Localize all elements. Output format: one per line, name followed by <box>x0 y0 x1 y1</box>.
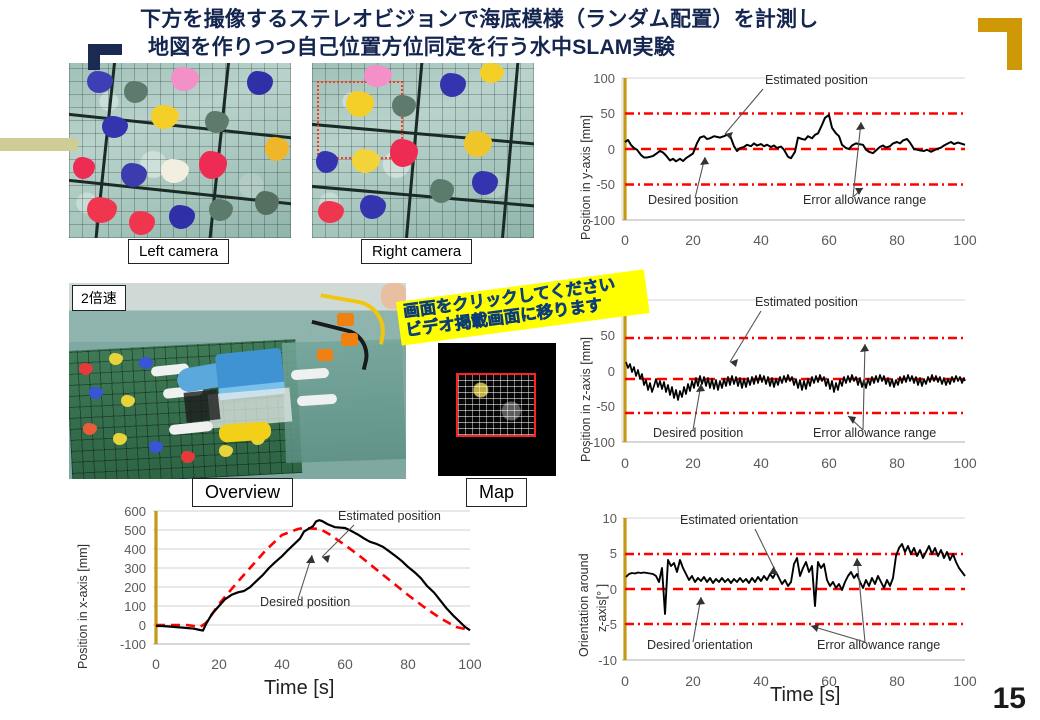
svg-text:500: 500 <box>124 523 146 538</box>
svg-text:0: 0 <box>621 455 629 471</box>
svg-text:20: 20 <box>211 656 227 672</box>
chart4-y-axis-title-line1: Orientation around <box>577 553 591 657</box>
slide-title-line1: 下方を撮像するステレオビジョンで海底模様（ランダム配置）を計測し <box>140 6 930 34</box>
overview-label: Overview <box>205 482 280 502</box>
left-camera-label: Left camera <box>139 243 218 260</box>
svg-text:400: 400 <box>124 542 146 557</box>
corner-bracket-gold-right <box>1007 18 1022 70</box>
cable-connector-orange <box>317 349 333 361</box>
svg-text:Estimated orientation: Estimated orientation <box>680 513 798 527</box>
svg-text:Error allowance range: Error allowance range <box>813 426 936 440</box>
slide-title: 下方を撮像するステレオビジョンで海底模様（ランダム配置）を計測し 地図を作りつつ… <box>140 6 930 61</box>
chart4-y-axis-title-group: Orientation around z-axis[° ] <box>565 502 625 682</box>
svg-text:20: 20 <box>685 455 701 471</box>
svg-text:200: 200 <box>124 580 146 595</box>
svg-text:-50: -50 <box>596 399 615 414</box>
chart-x-axis-position: Position in x-axis [mm] 600 500 400 300 … <box>60 497 530 712</box>
svg-text:40: 40 <box>274 656 290 672</box>
right-camera-label-box: Right camera <box>361 239 472 264</box>
svg-text:-100: -100 <box>120 637 146 652</box>
svg-text:Desired position: Desired position <box>260 595 350 609</box>
svg-text:-50: -50 <box>596 177 615 192</box>
map-image[interactable] <box>438 343 556 476</box>
right-camera-photo[interactable] <box>312 63 534 238</box>
overview-speed-badge: 2倍速 <box>81 290 117 306</box>
svg-text:0: 0 <box>608 142 615 157</box>
svg-text:Estimated position: Estimated position <box>765 73 868 87</box>
slide-title-line2: 地図を作りつつ自己位置方位同定を行う水中SLAM実験 <box>140 34 930 62</box>
cable-connector-orange <box>337 313 354 326</box>
chart-y-axis-position: Position in y-axis [mm] 100 50 0 -50 -10… <box>565 62 1040 257</box>
svg-text:100: 100 <box>458 656 482 672</box>
page-number: 15 <box>993 682 1026 716</box>
chart1-y-axis-title: Position in y-axis [mm] <box>579 115 593 240</box>
left-camera-label-box: Left camera <box>128 239 229 264</box>
svg-text:Error allowance range: Error allowance range <box>817 638 940 652</box>
svg-text:50: 50 <box>601 106 615 121</box>
svg-text:100: 100 <box>953 232 977 248</box>
map-label-box: Map <box>466 478 527 507</box>
svg-text:Desired position: Desired position <box>653 426 743 440</box>
khaki-accent-bar <box>0 138 78 151</box>
chart3-x-axis-title: Time [s] <box>264 677 334 700</box>
svg-text:60: 60 <box>821 455 837 471</box>
svg-text:Estimated position: Estimated position <box>338 509 441 523</box>
chart-z-axis-orientation: Orientation around z-axis[° ] 10 5 0 -5 … <box>565 502 1040 717</box>
svg-text:20: 20 <box>685 673 701 689</box>
cable-connector-orange <box>341 333 358 346</box>
svg-text:40: 40 <box>753 673 769 689</box>
svg-text:0: 0 <box>608 364 615 379</box>
svg-text:40: 40 <box>753 455 769 471</box>
svg-text:0: 0 <box>621 232 629 248</box>
svg-text:40: 40 <box>753 232 769 248</box>
svg-text:300: 300 <box>124 561 146 576</box>
corner-bracket-navy <box>88 44 122 70</box>
map-boundary-rectangle <box>456 373 536 437</box>
svg-text:Desired position: Desired position <box>648 193 738 207</box>
svg-text:Estimated position: Estimated position <box>755 295 858 309</box>
overview-speed-badge-box: 2倍速 <box>72 285 126 311</box>
svg-text:Desired orientation: Desired orientation <box>647 638 753 652</box>
svg-text:80: 80 <box>889 232 905 248</box>
chart3-y-axis-title: Position in x-axis [mm] <box>76 544 90 669</box>
chart4-y-axis-title-line2: z-axis[° ] <box>595 584 609 632</box>
left-camera-photo[interactable] <box>69 63 291 238</box>
svg-text:80: 80 <box>889 455 905 471</box>
map-label: Map <box>479 482 514 502</box>
svg-text:100: 100 <box>593 71 615 86</box>
rov-electronics <box>184 389 221 422</box>
overview-label-box: Overview <box>192 478 293 507</box>
chart1-plot: 100 50 0 -50 -100 0 20 40 60 80 100 Esti… <box>565 62 1040 257</box>
chart4-x-axis-title: Time [s] <box>770 684 840 707</box>
svg-text:100: 100 <box>953 673 977 689</box>
rov-thruster-yellow <box>218 421 271 443</box>
svg-text:50: 50 <box>601 328 615 343</box>
svg-text:0: 0 <box>139 618 146 633</box>
svg-text:Error allowance range: Error allowance range <box>803 193 926 207</box>
svg-text:60: 60 <box>337 656 353 672</box>
chart2-y-axis-title: Position in z-axis [mm] <box>579 337 593 462</box>
right-camera-label: Right camera <box>372 243 461 260</box>
corner-bracket-navy-left <box>88 44 100 70</box>
svg-text:600: 600 <box>124 504 146 519</box>
svg-text:80: 80 <box>889 673 905 689</box>
overview-photo[interactable] <box>69 283 406 479</box>
svg-text:60: 60 <box>821 232 837 248</box>
svg-text:100: 100 <box>953 455 977 471</box>
svg-text:80: 80 <box>400 656 416 672</box>
corner-bracket-gold <box>978 18 1022 70</box>
svg-text:0: 0 <box>152 656 160 672</box>
svg-text:100: 100 <box>124 599 146 614</box>
svg-text:20: 20 <box>685 232 701 248</box>
